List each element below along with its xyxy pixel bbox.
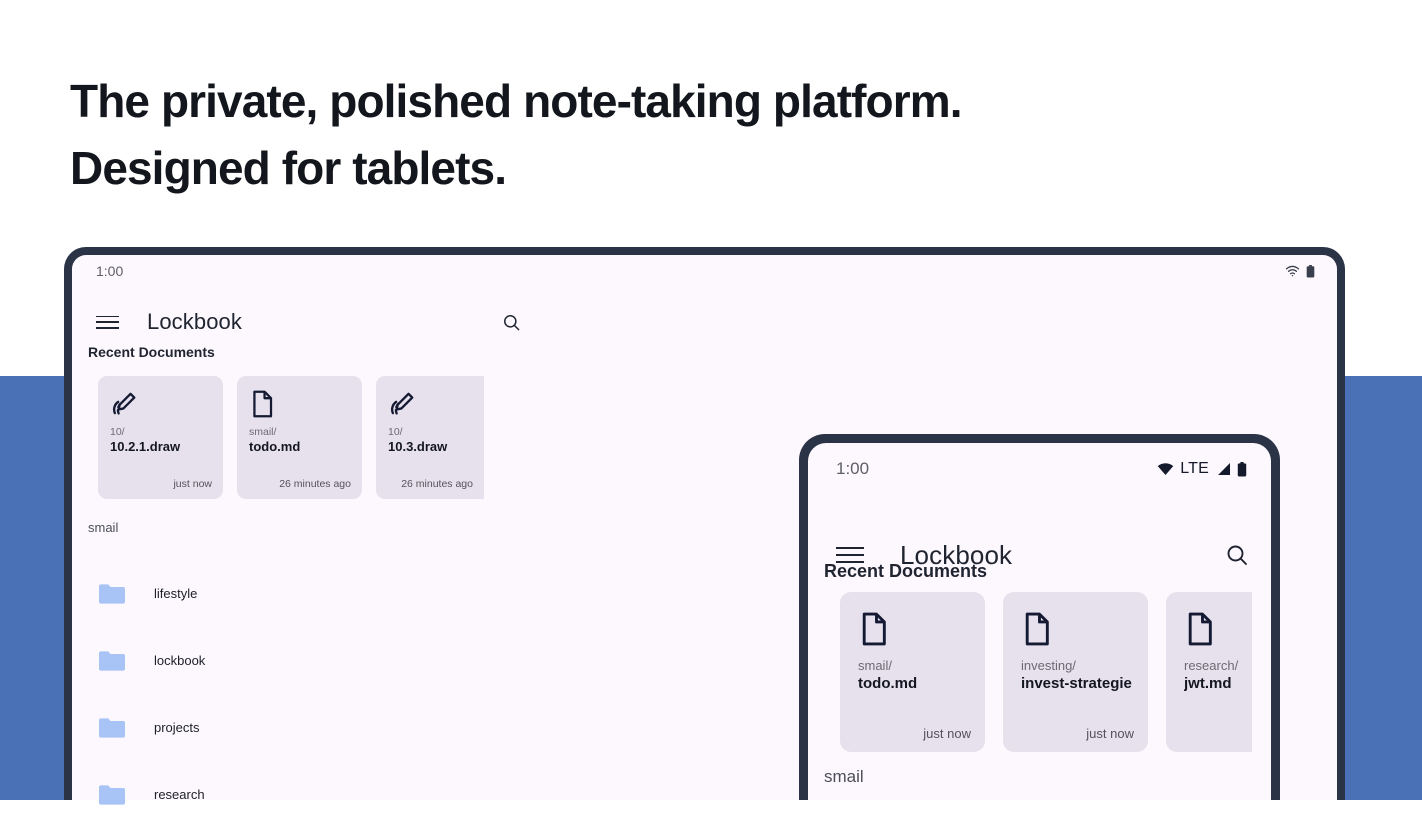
page-title: The private, polished note-taking platfo… xyxy=(70,68,1170,202)
card-parent-path: smail/ xyxy=(249,426,350,438)
recent-document-card[interactable]: smail/ todo.md just now xyxy=(840,592,985,752)
card-file-name: todo.md xyxy=(858,675,969,692)
folder-name: lifestyle xyxy=(154,586,197,601)
document-icon xyxy=(249,390,350,422)
tablet-root-folder-label: smail xyxy=(88,520,118,535)
tablet-folder-tree: lifestyle lockbook projects research xyxy=(98,560,498,828)
folder-row[interactable]: projects xyxy=(98,694,498,761)
document-icon xyxy=(858,612,969,652)
signal-icon xyxy=(1215,462,1231,476)
card-timestamp: 26 minutes ago xyxy=(401,478,473,490)
recent-document-card[interactable]: 10/ 10.3.draw 26 minutes ago xyxy=(376,376,484,499)
tablet-recent-documents-rail[interactable]: 10/ 10.2.1.draw just now smail/ todo.md … xyxy=(98,376,484,499)
folder-row[interactable]: lifestyle xyxy=(98,560,498,627)
tablet-app-bar: Lockbook xyxy=(72,299,712,345)
folder-name: projects xyxy=(154,720,200,735)
card-parent-path: 10/ xyxy=(388,426,472,438)
wifi-icon xyxy=(1157,462,1174,476)
card-file-name: todo.md xyxy=(249,439,350,454)
card-file-name: 10.2.1.draw xyxy=(110,439,211,454)
tablet-status-bar: 1:00 xyxy=(72,255,1337,287)
card-parent-path: investing/ xyxy=(1021,658,1132,673)
card-timestamp: just now xyxy=(173,478,212,490)
folder-icon xyxy=(98,583,126,605)
recent-document-card[interactable]: research/ jwt.md xyxy=(1166,592,1252,752)
folder-row[interactable]: lockbook xyxy=(98,627,498,694)
search-icon[interactable] xyxy=(502,313,521,332)
card-file-name: invest-strategie… xyxy=(1021,675,1132,692)
network-type-label: LTE xyxy=(1180,460,1209,478)
card-file-name: 10.3.draw xyxy=(388,439,472,454)
folder-name: lockbook xyxy=(154,653,205,668)
folder-row[interactable]: research xyxy=(98,761,498,828)
folder-icon xyxy=(98,717,126,739)
tablet-section-label: Recent Documents xyxy=(88,344,215,360)
card-file-name: jwt.md xyxy=(1184,675,1236,692)
phone-status-bar: 1:00 LTE xyxy=(808,443,1271,495)
card-parent-path: research/ xyxy=(1184,658,1236,673)
draw-icon xyxy=(110,390,211,422)
hamburger-menu-icon[interactable] xyxy=(96,316,119,329)
card-parent-path: smail/ xyxy=(858,658,969,673)
draw-icon xyxy=(388,390,472,422)
recent-document-card[interactable]: smail/ todo.md 26 minutes ago xyxy=(237,376,362,499)
recent-document-card[interactable]: investing/ invest-strategie… just now xyxy=(1003,592,1148,752)
card-timestamp: just now xyxy=(923,726,971,741)
card-timestamp: 26 minutes ago xyxy=(279,478,351,490)
tablet-status-clock: 1:00 xyxy=(96,263,123,279)
folder-icon xyxy=(98,650,126,672)
document-icon xyxy=(1021,612,1132,652)
wifi-icon xyxy=(1285,265,1300,277)
recent-document-card[interactable]: 10/ 10.2.1.draw just now xyxy=(98,376,223,499)
phone-recent-documents-rail[interactable]: smail/ todo.md just now investing/ inves… xyxy=(840,592,1252,752)
phone-section-label: Recent Documents xyxy=(824,561,987,582)
tablet-app-title: Lockbook xyxy=(147,309,242,335)
folder-icon xyxy=(98,784,126,806)
card-parent-path: 10/ xyxy=(110,426,211,438)
search-icon[interactable] xyxy=(1225,543,1249,567)
phone-status-clock: 1:00 xyxy=(836,459,869,479)
battery-icon xyxy=(1306,265,1315,278)
document-icon xyxy=(1184,612,1236,652)
card-timestamp: just now xyxy=(1086,726,1134,741)
battery-icon xyxy=(1237,462,1247,477)
phone-root-folder-label: smail xyxy=(824,767,864,787)
